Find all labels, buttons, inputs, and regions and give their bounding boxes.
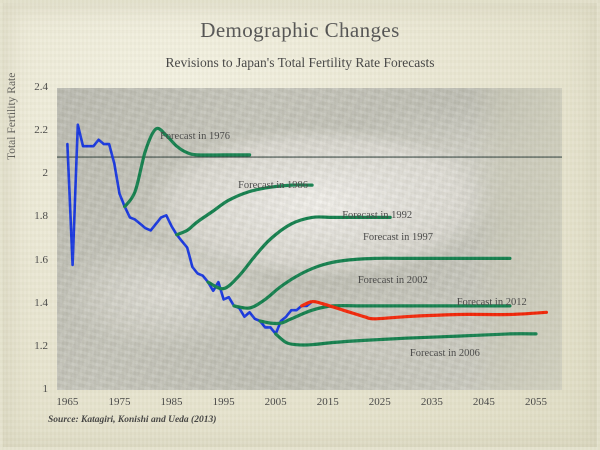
series-line-6 — [276, 334, 536, 345]
x-tick-0: 1965 — [44, 396, 90, 408]
y-tick-6: 2.2 — [14, 124, 48, 136]
series-lines — [57, 88, 562, 390]
chart-canvas: Demographic Changes Revisions to Japan's… — [0, 0, 600, 450]
x-tick-2: 1985 — [149, 396, 195, 408]
series-line-2 — [177, 185, 312, 235]
page-subtitle: Revisions to Japan's Total Fertility Rat… — [0, 55, 600, 71]
x-tick-6: 2025 — [357, 396, 403, 408]
x-tick-3: 1995 — [201, 396, 247, 408]
x-tick-7: 2035 — [409, 396, 455, 408]
x-tick-9: 2055 — [513, 396, 559, 408]
x-tick-4: 2005 — [253, 396, 299, 408]
annotation-0: Forecast in 1976 — [160, 131, 230, 142]
page-title: Demographic Changes — [0, 18, 600, 43]
y-tick-7: 2.4 — [14, 81, 48, 93]
y-tick-1: 1.2 — [14, 340, 48, 352]
annotation-2: Forecast in 1992 — [342, 210, 412, 221]
annotation-6: Forecast in 2006 — [410, 348, 480, 359]
annotation-4: Forecast in 2002 — [358, 275, 428, 286]
x-tick-8: 2045 — [461, 396, 507, 408]
y-tick-2: 1.4 — [14, 297, 48, 309]
annotation-1: Forecast in 1986 — [238, 180, 308, 191]
y-tick-3: 1.6 — [14, 254, 48, 266]
y-tick-5: 2 — [14, 167, 48, 179]
x-tick-1: 1975 — [96, 396, 142, 408]
annotation-3: Forecast in 1997 — [363, 232, 433, 243]
plot-area — [57, 88, 562, 390]
annotation-5: Forecast in 2012 — [457, 297, 527, 308]
source-note: Source: Katagiri, Konishi and Ueda (2013… — [48, 415, 216, 425]
x-tick-5: 2015 — [305, 396, 351, 408]
y-tick-0: 1 — [14, 383, 48, 395]
y-tick-4: 1.8 — [14, 210, 48, 222]
